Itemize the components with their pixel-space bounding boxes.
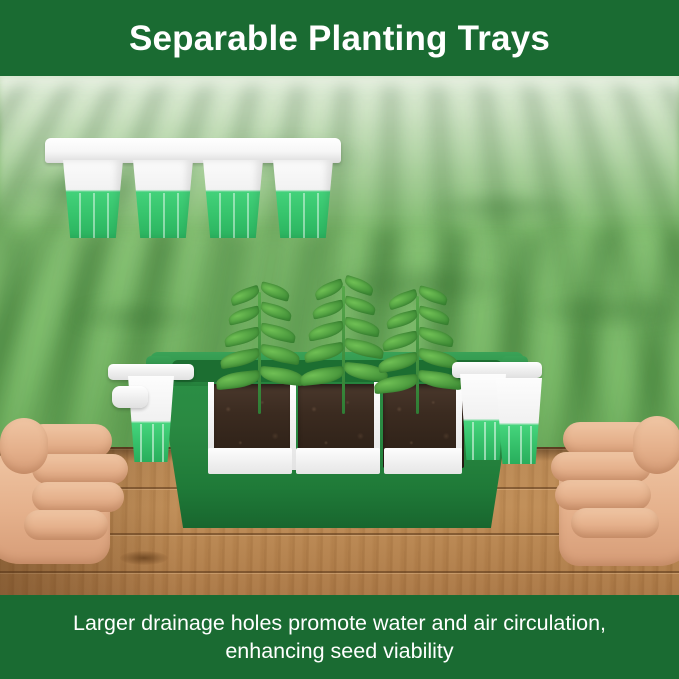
plant-leaf (299, 366, 344, 387)
cell-rib (289, 193, 291, 238)
right-finger (555, 480, 651, 510)
plant-leaf (313, 278, 346, 300)
cell-rib (233, 193, 235, 238)
cell-rib (107, 193, 109, 238)
tray-cell (133, 160, 193, 238)
cell-rib (303, 193, 305, 238)
plant-leaf (215, 370, 260, 391)
cell-front-face (208, 448, 292, 474)
page-title: Separable Planting Trays (129, 21, 550, 56)
cell-front-face (296, 448, 380, 474)
product-image-card: Separable Planting Trays Larger drainage… (0, 0, 679, 679)
cell-rib (508, 426, 510, 464)
cell-rib (530, 426, 532, 464)
plant-leaf (417, 326, 455, 347)
plant-leaf (229, 285, 262, 307)
cell-rib (317, 193, 319, 238)
cell-rib (219, 193, 221, 238)
plant-leaf (377, 352, 419, 374)
left-finger (32, 482, 124, 512)
product-photo (0, 76, 679, 595)
plant-leaf (219, 348, 261, 370)
cell-rib (520, 426, 522, 464)
plant-leaf (223, 326, 261, 347)
detached-cell-right (452, 362, 552, 472)
cell-rib (163, 193, 165, 238)
footer-caption-line-1: Larger drainage holes promote water and … (73, 609, 606, 637)
left-thumb (0, 418, 48, 474)
plant-leaf (343, 338, 385, 360)
cell-rib (247, 193, 249, 238)
plant-leaf (259, 281, 291, 302)
tray-cell (496, 378, 542, 464)
tray-cell (273, 160, 333, 238)
plant-leaf (343, 295, 377, 315)
footer-banner: Larger drainage holes promote water and … (0, 595, 679, 679)
cell-rib (149, 193, 151, 238)
tray-cell (63, 160, 123, 238)
right-thumb (633, 416, 679, 474)
cell-flange-tilted (112, 386, 148, 408)
plant-leaf (259, 322, 297, 343)
plant-leaf (385, 309, 419, 329)
footer-caption-line-2: enhancing seed viability (225, 637, 453, 665)
plant-leaf (259, 366, 304, 387)
cell-front-face (384, 448, 462, 474)
cell-rib (472, 422, 474, 460)
tray-top-flange (45, 138, 341, 163)
plant-leaf (311, 299, 345, 319)
header-banner: Separable Planting Trays (0, 0, 679, 76)
cell-rib (484, 422, 486, 460)
cell-rib (93, 193, 95, 238)
plant-leaf (303, 342, 345, 364)
plant-leaf (343, 275, 376, 297)
plant-leaf (259, 344, 301, 366)
plant-leaf (343, 316, 381, 337)
plant-leaf (417, 285, 449, 306)
cell-rib (152, 424, 154, 462)
tray-cell (203, 160, 263, 238)
cell-rib (79, 193, 81, 238)
cell-rib (140, 424, 142, 462)
plant-leaf (381, 330, 419, 351)
detached-four-cell-tray (45, 138, 341, 248)
right-finger (571, 508, 659, 538)
plant-leaf (307, 320, 345, 341)
cell-rib (177, 193, 179, 238)
plant-leaf (259, 301, 293, 321)
cell-rib (162, 424, 164, 462)
plant-leaf (417, 305, 451, 325)
plant-leaf (387, 289, 420, 311)
plant-leaf (227, 305, 261, 325)
cell-rib (494, 422, 496, 460)
detached-cell-left (108, 364, 198, 474)
left-finger (24, 510, 108, 540)
